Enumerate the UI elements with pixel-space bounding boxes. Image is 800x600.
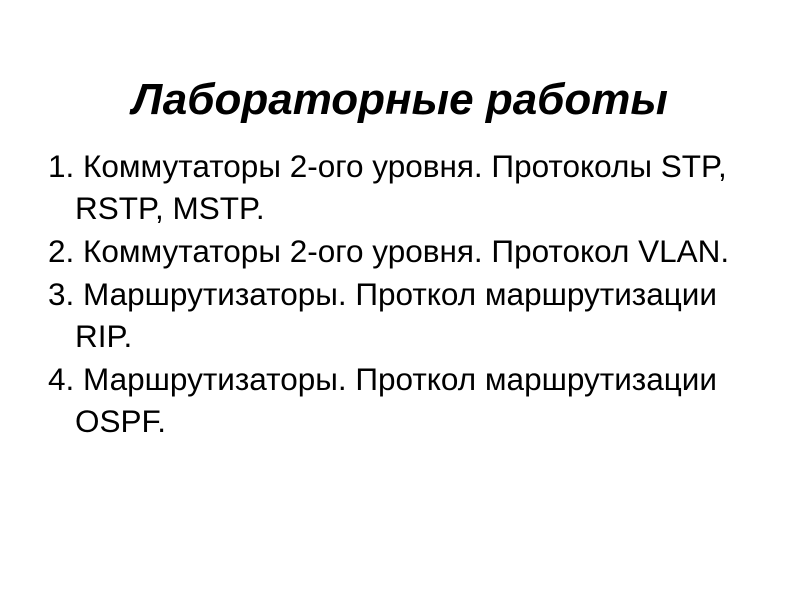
list-item: 1. Коммутаторы 2-ого уровня. Протоколы S…: [48, 145, 748, 229]
lab-works-list: 1. Коммутаторы 2-ого уровня. Протоколы S…: [48, 145, 748, 442]
page-title: Лабораторные работы: [0, 77, 800, 123]
list-item: 4. Маршрутизаторы. Проткол маршрутизации…: [48, 358, 748, 442]
list-item: 3. Маршрутизаторы. Проткол маршрутизации…: [48, 273, 748, 357]
list-item: 2. Коммутаторы 2-ого уровня. Протокол VL…: [48, 230, 748, 272]
slide-canvas: Лабораторные работы 1. Коммутаторы 2-ого…: [0, 0, 800, 600]
